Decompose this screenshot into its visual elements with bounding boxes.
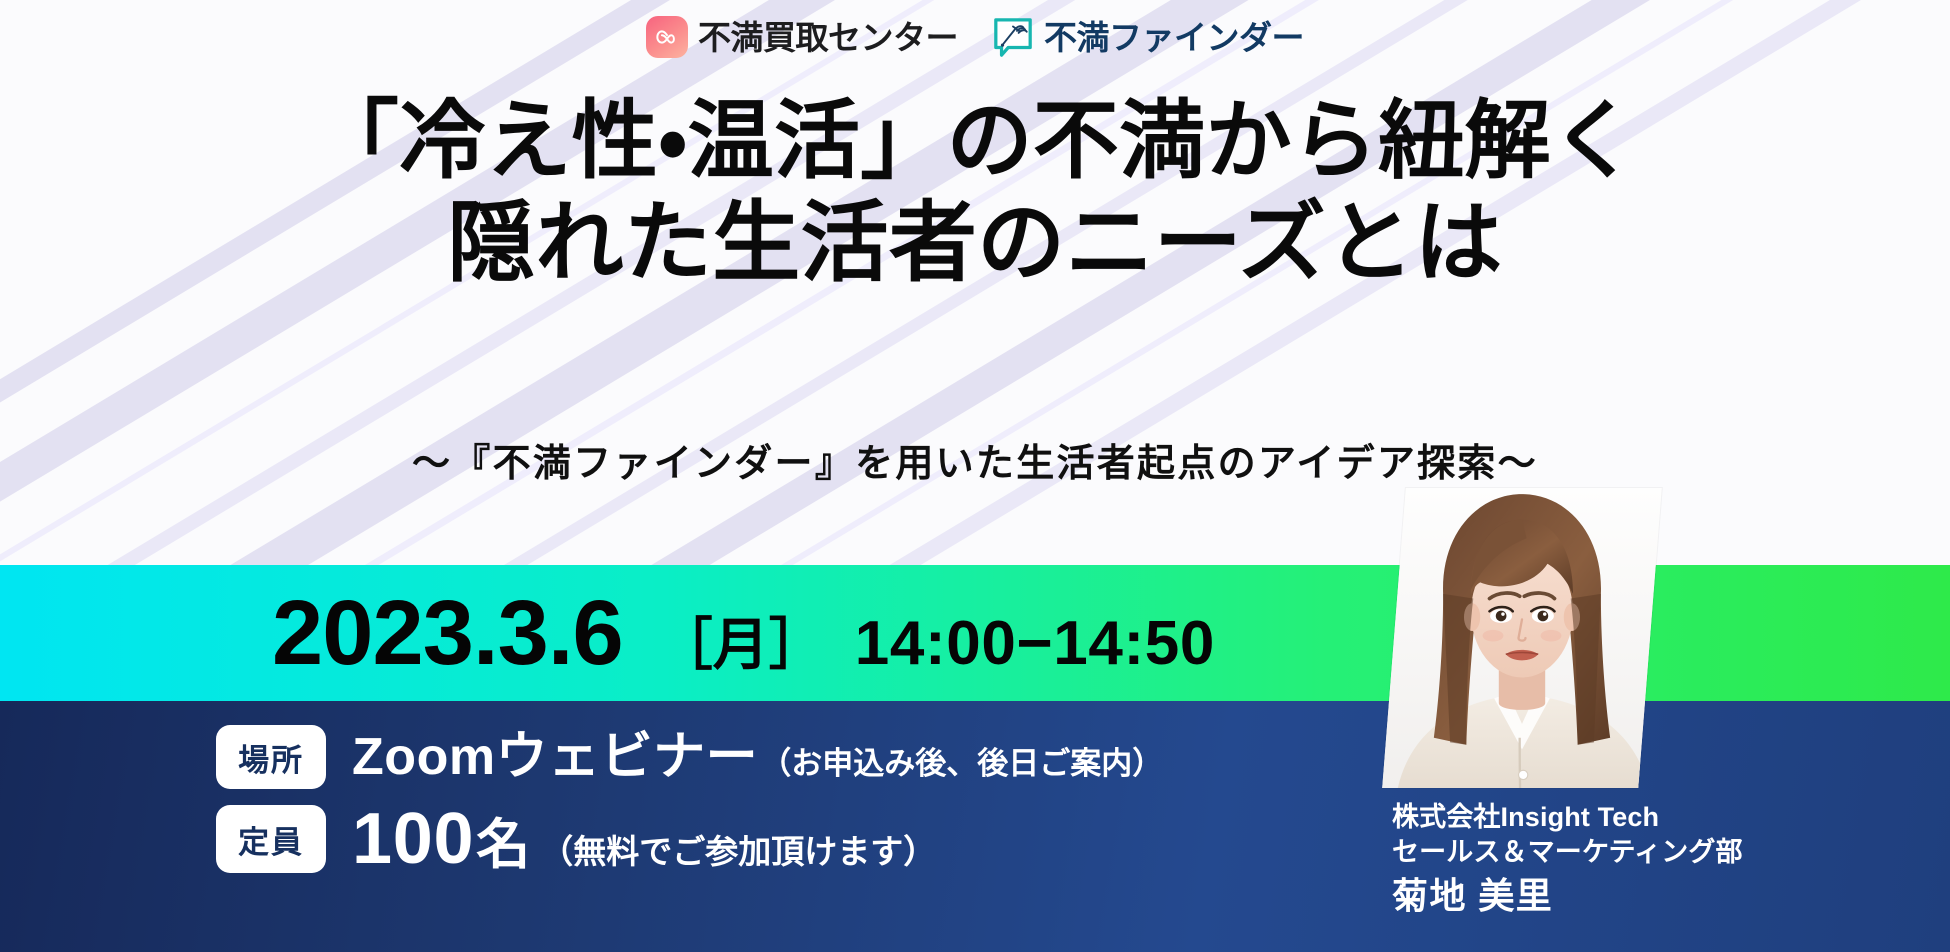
detail-value-capacity: 100 bbox=[352, 803, 474, 875]
page-title: 「冷え性・温活」の不満から紐解く 隠れた生活者のニーズとは bbox=[0, 92, 1950, 294]
event-details-list: 場所 Zoomウェビナー （お申込み後、後日ご案内） 定員 100 名 （無料で… bbox=[216, 725, 1163, 875]
speaker-photo-image bbox=[1382, 488, 1662, 788]
detail-note-venue: （お申込み後、後日ご案内） bbox=[760, 748, 1163, 779]
event-time: 14:00−14:50 bbox=[855, 613, 1215, 675]
banner-upper-section: 不満買取センター 不 bbox=[0, 0, 1950, 565]
logo-label-fuman-finder: 不満ファインダー bbox=[1044, 21, 1304, 54]
speaker-company: 株式会社Insight Tech bbox=[1392, 800, 1832, 835]
detail-label-capacity: 定員 bbox=[216, 805, 326, 873]
detail-note-capacity: （無料でご参加頂けます） bbox=[540, 835, 936, 868]
headline-line-1: 「冷え性・温活」の不満から紐解く bbox=[0, 92, 1950, 192]
logo-label-fuman-kaitori-center: 不満買取センター bbox=[698, 21, 958, 54]
event-date-group: 2023.3.6 ［月］ 14:00−14:50 bbox=[0, 587, 1215, 679]
detail-row-venue: 場所 Zoomウェビナー （お申込み後、後日ご案内） bbox=[216, 725, 1163, 789]
webinar-banner: 不満買取センター 不 bbox=[0, 0, 1950, 952]
headline-line-2: 隠れた生活者のニーズとは bbox=[0, 192, 1950, 294]
speaker-info: 株式会社Insight Tech セールス＆マーケティング部 菊地 美里 bbox=[1392, 800, 1832, 920]
event-day-of-week: ［月］ bbox=[657, 617, 825, 673]
detail-row-capacity: 定員 100 名 （無料でご参加頂けます） bbox=[216, 803, 1163, 875]
detail-value-venue: Zoomウェビナー bbox=[352, 731, 758, 783]
speaker-department: セールス＆マーケティング部 bbox=[1392, 835, 1832, 870]
logo-row: 不満買取センター 不 bbox=[0, 16, 1950, 58]
infinity-icon bbox=[646, 16, 688, 58]
speaker-photo bbox=[1382, 488, 1662, 788]
event-date: 2023.3.6 bbox=[272, 587, 623, 679]
logo-fuman-finder: 不満ファインダー bbox=[992, 16, 1304, 58]
detail-label-venue: 場所 bbox=[216, 725, 326, 789]
detail-value-capacity-group: 100 名 （無料でご参加頂けます） bbox=[352, 803, 936, 875]
detail-value-venue-group: Zoomウェビナー （お申込み後、後日ご案内） bbox=[352, 731, 1163, 783]
logo-fuman-kaitori-center: 不満買取センター bbox=[646, 16, 958, 58]
headline-subtitle: 〜『不満ファインダー』を用いた生活者起点のアイデア探索〜 bbox=[0, 432, 1950, 487]
detail-unit-capacity: 名 bbox=[476, 818, 530, 872]
speaker-name: 菊地 美里 bbox=[1392, 873, 1832, 920]
event-date-band: 2023.3.6 ［月］ 14:00−14:50 bbox=[0, 565, 1950, 701]
speech-bubble-search-icon bbox=[992, 16, 1034, 58]
